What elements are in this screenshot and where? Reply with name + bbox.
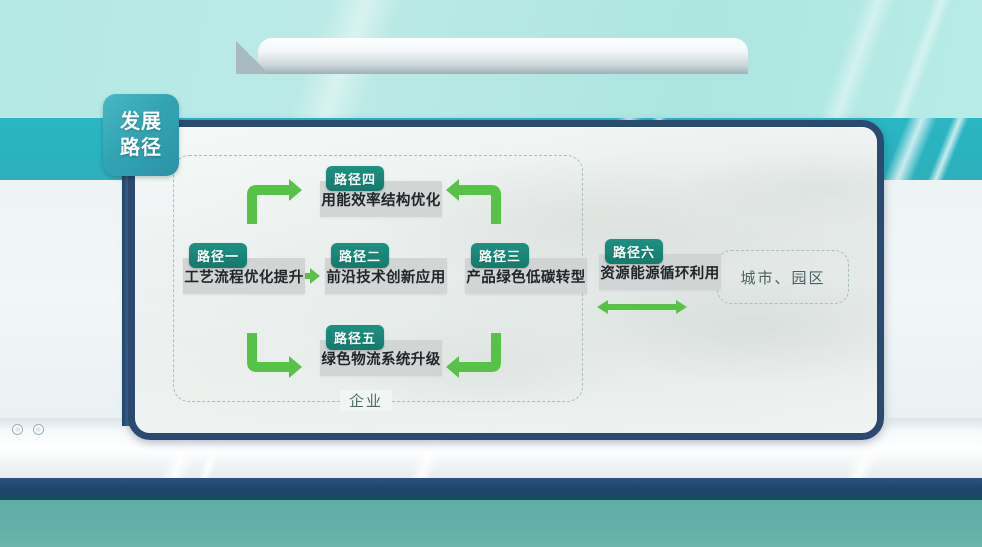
arrow-elbow-up-left-icon <box>445 179 505 225</box>
teal-diagonal-stripe <box>882 118 937 180</box>
section-title-badge: 发展 路径 <box>103 94 179 176</box>
node-path-4-tag: 路径四 <box>326 166 384 191</box>
node-path-6[interactable]: 路径六 资源能源循环利用 <box>599 254 721 290</box>
badge-line-2: 路径 <box>120 135 162 161</box>
arrow-elbow-down-right-icon <box>243 332 303 378</box>
node-path-2-tag: 路径二 <box>331 243 389 268</box>
node-path-4[interactable]: 路径四 用能效率结构优化 <box>320 181 442 217</box>
node-path-3[interactable]: 路径三 产品绿色低碳转型 <box>465 258 587 294</box>
rivet-icon <box>33 424 44 435</box>
node-path-2[interactable]: 路径二 前沿技术创新应用 <box>325 258 447 294</box>
decorative-arch <box>258 38 748 74</box>
background-navy-stripe <box>0 478 982 500</box>
diagram-content: 企业 城市、园区 <box>135 127 877 433</box>
diagram-frame: 企业 城市、园区 <box>128 120 884 440</box>
arrow-double-headed-icon <box>597 299 687 315</box>
node-path-3-tag: 路径三 <box>471 243 529 268</box>
node-path-1-tag: 路径一 <box>189 243 247 268</box>
node-path-5[interactable]: 路径五 绿色物流系统升级 <box>320 340 442 376</box>
node-path-6-tag: 路径六 <box>605 239 663 264</box>
group-city-park: 城市、园区 <box>717 250 849 304</box>
badge-line-1: 发展 <box>120 109 162 135</box>
rivet-icon <box>12 424 23 435</box>
slide-canvas: 发展 路径 企业 城市、园区 <box>0 0 982 547</box>
group-enterprise-label: 企业 <box>340 390 392 411</box>
group-city-park-label: 城市、园区 <box>740 267 825 288</box>
node-path-5-tag: 路径五 <box>326 325 384 350</box>
background-green-block <box>0 500 982 547</box>
node-path-1[interactable]: 路径一 工艺流程优化提升 <box>183 258 305 294</box>
arrow-elbow-up-right-icon <box>243 179 303 225</box>
arrow-elbow-down-left-icon <box>445 332 505 378</box>
